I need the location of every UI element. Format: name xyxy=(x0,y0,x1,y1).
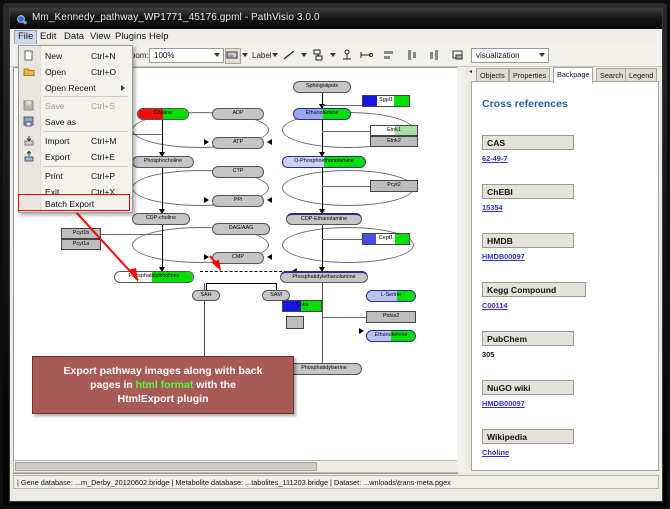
geneproduct-dropdown-icon[interactable] xyxy=(242,53,248,57)
xref-value-link[interactable]: Choline xyxy=(482,448,574,457)
chevron-down-icon xyxy=(214,53,220,57)
xref-wikipedia: Wikipedia Choline xyxy=(482,429,574,457)
align-left-icon[interactable] xyxy=(382,48,397,62)
menu-separator xyxy=(43,96,128,97)
xref-value-text: 305 xyxy=(482,350,574,359)
menu-item-open-recent[interactable]: Open Recent xyxy=(19,80,132,95)
menu-bar: File Edit Data View Plugins Help xyxy=(10,29,662,45)
canvas-splitter[interactable] xyxy=(457,67,465,472)
menu-item-label: Save as xyxy=(45,117,76,127)
annotation-line-3: HtmlExport plugin xyxy=(118,393,209,405)
chevron-right-icon xyxy=(121,85,125,91)
menu-item-label: Export xyxy=(45,152,70,162)
svg-text:Gn: Gn xyxy=(228,53,233,58)
menu-item-print[interactable]: Print Ctrl+P xyxy=(19,168,132,183)
geneproduct-tool-button[interactable]: Gn xyxy=(225,48,241,64)
menu-item-accelerator: Ctrl+N xyxy=(91,51,116,61)
annotation-highlight: html format xyxy=(136,379,194,391)
menu-item-accelerator: Ctrl+S xyxy=(91,101,115,111)
window-title: Mm_Kennedy_pathway_WP1771_45176.gpml - P… xyxy=(32,12,320,23)
xref-db-label: ChEBI xyxy=(482,184,574,199)
file-menu-popup: New Ctrl+N Open Ctrl+O Open Recent Save … xyxy=(18,45,133,213)
xref-pubchem: PubChem 305 xyxy=(482,331,574,359)
label-dropdown-icon[interactable] xyxy=(272,53,278,57)
xref-db-label: Wikipedia xyxy=(482,429,574,444)
xref-hmdb: HMDB HMDB00097 xyxy=(482,233,574,261)
tab-objects[interactable]: Objects xyxy=(476,68,509,82)
tab-backpage[interactable]: Backpage xyxy=(553,67,593,84)
menu-item-import[interactable]: Import Ctrl+M xyxy=(19,133,132,148)
menu-item-label: Open Recent xyxy=(45,83,96,93)
menu-separator xyxy=(43,131,128,132)
status-bar: | Gene database: ...m_Derby_20120602.bri… xyxy=(13,475,659,489)
zoom-combobox[interactable]: 100% xyxy=(149,48,224,63)
menu-item-save-as[interactable]: Save as xyxy=(19,114,132,129)
label-tool-label[interactable]: Label xyxy=(252,51,272,60)
xref-value-link[interactable]: 62-49-7 xyxy=(482,154,574,163)
annotation-line-1: Export pathway images along with back xyxy=(64,365,263,377)
line-tool-icon[interactable] xyxy=(282,48,297,62)
menu-item-accelerator: Ctrl+E xyxy=(91,152,115,162)
menu-data[interactable]: Data xyxy=(60,30,88,44)
shape-tool-icon[interactable] xyxy=(311,48,326,62)
menu-item-label: New xyxy=(45,51,62,61)
menu-item-new[interactable]: New Ctrl+N xyxy=(19,48,132,63)
annotation-line-2-post: with the xyxy=(193,379,236,391)
tab-properties[interactable]: Properties xyxy=(509,68,550,82)
menu-separator xyxy=(43,166,128,167)
xref-cas: CAS 62-49-7 xyxy=(482,135,574,163)
group-tool-icon[interactable] xyxy=(451,48,466,62)
backpage-content: Cross references CAS 62-49-7 ChEBI 15354… xyxy=(471,81,659,471)
align-center-icon[interactable] xyxy=(405,48,420,62)
menu-item-accelerator: Ctrl+P xyxy=(91,171,115,181)
menu-help[interactable]: Help xyxy=(145,30,173,44)
save-as-icon xyxy=(23,116,35,127)
canvas-horizontal-scrollbar[interactable] xyxy=(13,460,458,473)
xref-kegg-compound: Kegg Compound C00114 xyxy=(482,282,586,310)
side-panel: ◂ Objects Properties Backpage Search Leg… xyxy=(468,67,659,472)
chevron-down-icon xyxy=(539,53,545,57)
title-bar[interactable]: Mm_Kennedy_pathway_WP1771_45176.gpml - P… xyxy=(10,9,662,30)
line-dropdown-icon[interactable] xyxy=(301,53,307,57)
xref-db-label: HMDB xyxy=(482,233,574,248)
save-disk-icon xyxy=(23,100,35,111)
xref-value-link[interactable]: 15354 xyxy=(482,203,574,212)
menu-item-export[interactable]: Export Ctrl+E xyxy=(19,149,132,164)
xref-value-link[interactable]: HMDB00097 xyxy=(482,252,574,261)
menu-item-batch-export[interactable]: Batch Export xyxy=(19,196,132,211)
menu-item-accelerator: Ctrl+M xyxy=(91,136,117,146)
menu-item-open[interactable]: Open Ctrl+O xyxy=(19,64,132,79)
open-folder-icon xyxy=(23,66,35,77)
menu-edit[interactable]: Edit xyxy=(36,30,60,44)
menu-item-label: Open xyxy=(45,67,66,77)
scrollbar-thumb[interactable] xyxy=(15,462,317,471)
cross-references-heading: Cross references xyxy=(482,98,568,110)
screen-root: Mm_Kennedy_pathway_WP1771_45176.gpml - P… xyxy=(0,0,670,509)
tab-scroll-icon[interactable]: ◂ xyxy=(469,68,474,80)
menu-item-save: Save Ctrl+S xyxy=(19,98,132,113)
menu-file[interactable]: File xyxy=(14,30,37,45)
xref-value-link[interactable]: HMDB00097 xyxy=(482,399,574,408)
node-anchor-box[interactable] xyxy=(286,316,304,329)
tab-search[interactable]: Search xyxy=(596,68,627,82)
menu-item-label: Import xyxy=(45,136,69,146)
xref-db-label: NuGO wiki xyxy=(482,380,574,395)
menu-item-label: Save xyxy=(45,101,65,111)
annotation-line-2-pre: pages in xyxy=(90,379,136,391)
export-icon xyxy=(23,151,35,162)
xref-db-label: PubChem xyxy=(482,331,574,346)
xref-nugo-wiki: NuGO wiki HMDB00097 xyxy=(482,380,574,408)
menu-item-label: Print xyxy=(45,171,63,181)
import-icon xyxy=(23,135,35,146)
expression-data-heading: Expression data xyxy=(482,470,555,471)
annotation-text: Export pathway images along with back pa… xyxy=(58,364,269,406)
app-icon xyxy=(16,13,28,25)
tab-legend[interactable]: Legend xyxy=(625,68,657,82)
menu-item-accelerator: Ctrl+O xyxy=(91,67,116,77)
xref-chebi: ChEBI 15354 xyxy=(482,184,574,212)
side-panel-tab-row: ◂ Objects Properties Backpage Search Leg… xyxy=(468,67,659,81)
menu-item-label: Batch Export xyxy=(45,199,94,209)
interaction-tool-icon[interactable] xyxy=(359,48,374,62)
visualization-value: visualization xyxy=(476,49,520,62)
xref-db-label: Kegg Compound xyxy=(482,282,586,297)
new-document-icon xyxy=(23,50,35,61)
annotation-callout: Export pathway images along with back pa… xyxy=(32,356,294,414)
align-distribute-icon[interactable] xyxy=(428,48,443,62)
visualization-combobox[interactable]: visualization xyxy=(471,48,549,63)
zoom-value: 100% xyxy=(154,49,174,62)
xref-db-label: CAS xyxy=(482,135,574,150)
shape-dropdown-icon[interactable] xyxy=(330,53,336,57)
anchor-tool-icon[interactable] xyxy=(340,48,355,62)
pathvisio-application-window: Mm_Kennedy_pathway_WP1771_45176.gpml - P… xyxy=(9,8,663,502)
xref-value-link[interactable]: C00114 xyxy=(482,301,586,310)
